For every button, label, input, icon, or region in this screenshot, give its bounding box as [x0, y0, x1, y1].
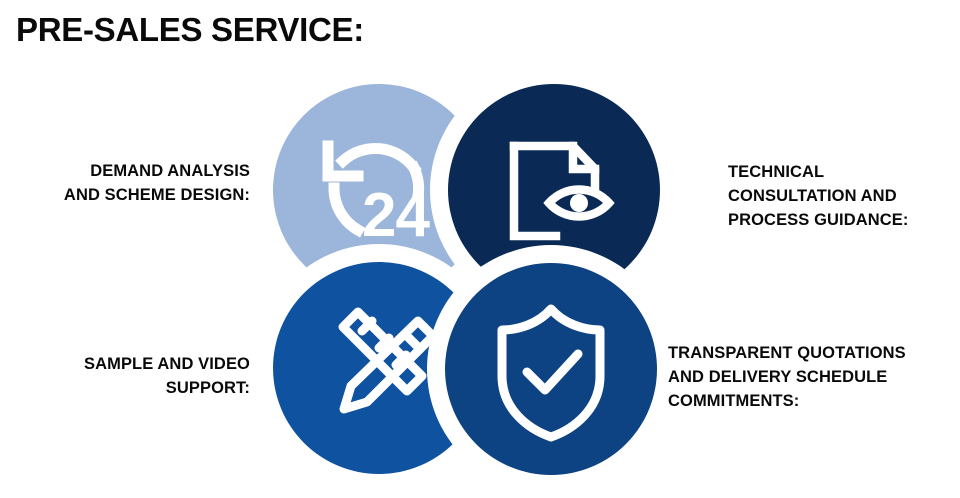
eye-pupil-icon — [570, 194, 588, 212]
page-title: PRE-SALES SERVICE: — [16, 12, 364, 48]
label-line: AND SCHEME DESIGN: — [10, 184, 250, 208]
circle-transparent-quotations[interactable] — [445, 263, 657, 475]
label-line: TRANSPARENT QUOTATIONS — [668, 342, 960, 366]
label-line: COMMITMENTS: — [668, 390, 960, 414]
circle-cluster: 24 — [266, 84, 666, 480]
label-line: DEMAND ANALYSIS — [10, 160, 250, 184]
label-line: TECHNICAL — [728, 161, 950, 185]
label-line: PROCESS GUIDANCE: — [728, 209, 950, 233]
label-demand-analysis: DEMAND ANALYSIS AND SCHEME DESIGN: — [10, 160, 250, 208]
label-technical-consultation: TECHNICAL CONSULTATION AND PROCESS GUIDA… — [728, 161, 950, 233]
clock-hours-text: 24 — [362, 181, 430, 250]
infographic-canvas: PRE-SALES SERVICE: — [0, 0, 960, 498]
label-line: SAMPLE AND VIDEO — [10, 353, 250, 377]
label-line: CONSULTATION AND — [728, 185, 950, 209]
label-line: AND DELIVERY SCHEDULE — [668, 366, 960, 390]
label-sample-video-support: SAMPLE AND VIDEO SUPPORT: — [10, 353, 250, 401]
label-line: SUPPORT: — [10, 377, 250, 401]
label-transparent-quotations: TRANSPARENT QUOTATIONS AND DELIVERY SCHE… — [668, 342, 960, 414]
